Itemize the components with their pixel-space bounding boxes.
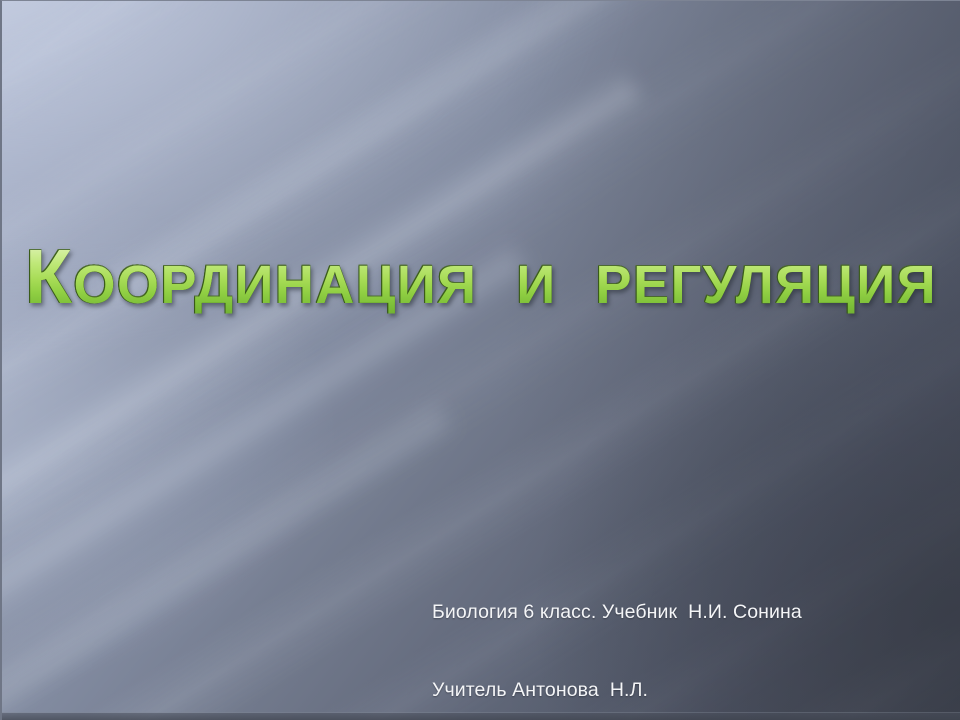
slide-subtitle-line-1: Биология 6 класс. Учебник Н.И. Сонина bbox=[432, 599, 802, 625]
presentation-slide: Координация и регуляция Биология 6 класс… bbox=[0, 0, 960, 720]
slide-subtitle-line-2: Учитель Антонова Н.Л. bbox=[432, 677, 802, 703]
slide-subtitle: Биология 6 класс. Учебник Н.И. Сонина Уч… bbox=[432, 547, 802, 720]
